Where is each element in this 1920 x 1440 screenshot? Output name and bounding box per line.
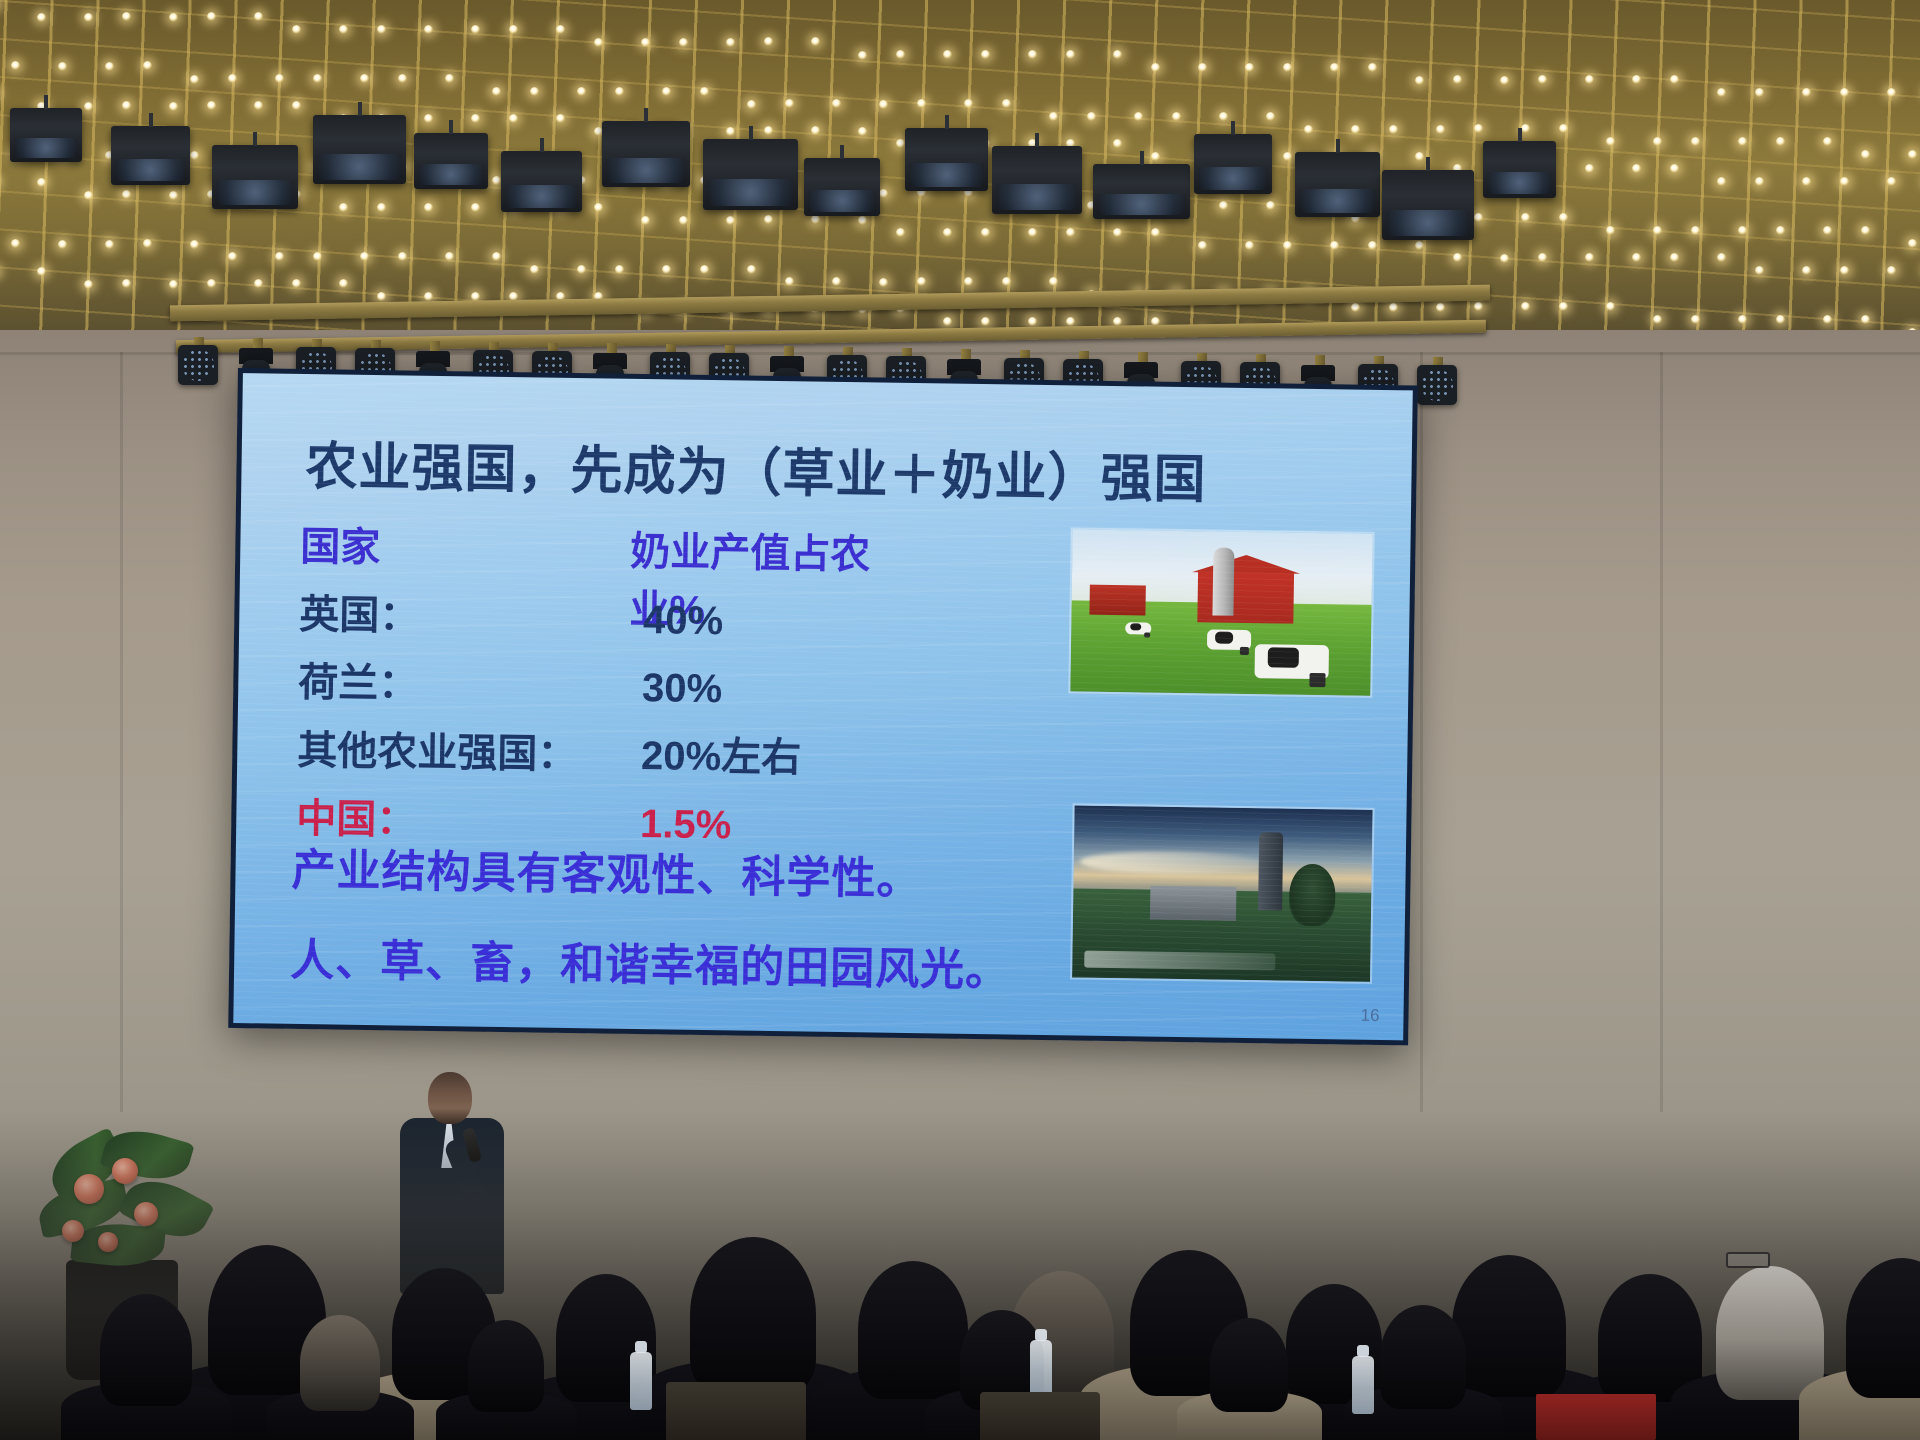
dusk-tree (1289, 864, 1336, 927)
wall-seam (120, 352, 123, 1112)
ceiling-bulb (858, 127, 867, 136)
fixture-yoke (840, 145, 844, 159)
ceiling-bulb (1113, 50, 1122, 59)
ceiling-bulb (1755, 88, 1764, 97)
cow-icon (1207, 630, 1251, 651)
fixture-yoke (1231, 121, 1235, 135)
ceiling-bulb (398, 252, 407, 261)
ceiling-bulb (577, 87, 586, 96)
ceiling-bulb (615, 87, 624, 96)
fixture-yoke (1426, 157, 1430, 171)
ceiling-bulb (858, 216, 867, 225)
fixture-lens (14, 138, 78, 159)
ceiling-bulb (313, 252, 322, 261)
ceiling-bulb (1436, 125, 1445, 134)
ceiling-bulb (1283, 63, 1292, 72)
water-bottle (630, 1352, 652, 1410)
ceiling-bulb (1087, 112, 1096, 121)
ceiling-bulb (377, 203, 386, 212)
led-wash-fixture (1417, 365, 1457, 405)
table-row: 荷兰： 30% (298, 650, 939, 711)
ceiling-bulb (858, 51, 867, 60)
fixture-lens (808, 190, 876, 212)
slide-bottom-text: 产业结构具有客观性、科学性。 人、草、畜，和谐幸福的田园风光。 (290, 834, 1112, 1000)
ceiling-bulb (169, 102, 178, 111)
ceiling-bulb (1389, 125, 1398, 134)
table-row: 其他农业强国： 20%左右 (297, 718, 938, 779)
ceiling-bulb (1802, 177, 1811, 186)
ceiling-bulb (679, 216, 688, 225)
ceiling-bulb (747, 265, 756, 274)
ceiling-bulb (1823, 226, 1832, 235)
ceiling-bulb (1840, 88, 1849, 97)
ceiling-bulb (530, 265, 539, 274)
ceiling-bulb (1351, 303, 1360, 312)
ceiling-bulb (700, 87, 709, 96)
par-can-fixture (804, 158, 880, 216)
fixture-yoke (945, 115, 949, 129)
ceiling-bulb (169, 191, 178, 200)
fixture-yoke (1035, 133, 1039, 147)
row-country: 荷兰： (298, 650, 625, 713)
fixture-lens (505, 185, 578, 208)
fixture-yoke (1336, 139, 1340, 153)
ceiling-bulb (594, 38, 603, 47)
ceiling-bulb (509, 114, 518, 123)
audience-head (300, 1315, 380, 1411)
ceiling-bulb (1861, 150, 1870, 159)
audience-head (468, 1320, 544, 1412)
ceiling-bulb (424, 114, 433, 123)
ceiling-bulb (1172, 112, 1181, 121)
ceiling-bulb (641, 216, 650, 225)
ceiling-bulb (190, 240, 199, 249)
ceiling-bulb (1368, 63, 1377, 72)
row-value: 30% (624, 666, 939, 716)
par-can-fixture (1382, 170, 1474, 240)
screenshot-root: 农业强国，先成为（草业＋奶业）强国 国家 奶业产值占农业% 英国： 40% 荷兰… (0, 0, 1920, 1440)
par-can-fixture (111, 126, 190, 185)
ceiling-bulb (398, 74, 407, 83)
ceiling-bulb (1908, 150, 1917, 159)
ceiling-bulb (726, 127, 735, 136)
ceiling-bulb (1283, 241, 1292, 250)
cow-icon (1255, 644, 1329, 679)
audience-head (1716, 1266, 1824, 1400)
dairy-farm-photo (1068, 527, 1374, 697)
fixture-yoke (1518, 128, 1522, 142)
presentation-slide: 农业强国，先成为（草业＋奶业）强国 国家 奶业产值占农业% 英国： 40% 荷兰… (233, 373, 1413, 1040)
ceiling-bulb (1245, 241, 1254, 250)
ceiling-bulb (1436, 303, 1445, 312)
ceiling-bulb (445, 252, 454, 261)
wall-seam (0, 352, 1920, 355)
table-header-country: 国家 (300, 514, 631, 577)
par-can-fixture (212, 145, 298, 209)
chair-back (980, 1392, 1100, 1440)
ceiling-bulb (1500, 254, 1509, 263)
ceiling-bulb (1266, 112, 1275, 121)
ceiling-bulb (424, 292, 433, 301)
ceiling-bulb (1861, 315, 1870, 324)
chair-back (666, 1382, 806, 1440)
audience-head (690, 1237, 816, 1393)
ceiling-bulb (1415, 241, 1424, 250)
fixture-yoke (644, 108, 648, 122)
ceiling-bulb (377, 292, 386, 301)
ceiling-bulb (1198, 63, 1207, 72)
ceiling-bulb (1823, 137, 1832, 146)
par-can-fixture (10, 108, 82, 162)
ceiling-bulb (879, 100, 888, 109)
dusk-farmstead-photo (1070, 803, 1375, 983)
dusk-field (1084, 950, 1275, 970)
ceiling-bulb (1840, 177, 1849, 186)
fixture-lens (216, 180, 294, 204)
fixture-yoke (749, 126, 753, 140)
audience-head (100, 1294, 192, 1406)
ceiling-bulb (84, 191, 93, 200)
ceiling-bulb (1887, 266, 1896, 275)
ceiling-bulb (37, 267, 46, 276)
ceiling-bulb (879, 189, 888, 198)
wall-seam (1660, 352, 1663, 1112)
ceiling-bulb (1245, 63, 1254, 72)
cow-icon (1125, 622, 1151, 634)
led-wash-fixture (178, 345, 218, 385)
ceiling-bulb (424, 203, 433, 212)
ceiling-bulb (615, 265, 624, 274)
par-can-fixture (1194, 134, 1272, 194)
ceiling-bulb (1776, 137, 1785, 146)
par-can-fixture (1483, 141, 1556, 198)
water-bottle (1352, 1356, 1374, 1414)
fixture-yoke (149, 113, 153, 127)
led-screen-surface: 农业强国，先成为（草业＋奶业）强国 国家 奶业产值占农业% 英国： 40% 荷兰… (233, 373, 1413, 1040)
bottom-line-2: 人、草、畜，和谐幸福的田园风光。 (290, 924, 1111, 1000)
audience-head (858, 1261, 968, 1399)
par-can-fixture (313, 115, 406, 184)
ceiling-bulb (1219, 112, 1228, 121)
ceiling-bulb (1198, 241, 1207, 250)
ceiling-bulb (424, 25, 433, 34)
fixture-lens (707, 179, 794, 206)
ceiling-bulb (105, 240, 114, 249)
led-screen: 农业强国，先成为（草业＋奶业）强国 国家 奶业产值占农业% 英国： 40% 荷兰… (228, 368, 1418, 1045)
ceiling-bulb (1776, 226, 1785, 235)
ceiling-bulb (1755, 266, 1764, 275)
par-can-fixture (1093, 164, 1190, 219)
ceiling-bulb (1002, 99, 1011, 108)
ceiling-bulb (1151, 152, 1160, 161)
fixture-lens (1386, 210, 1470, 237)
dusk-barn (1150, 886, 1236, 921)
ceiling-bulb (726, 38, 735, 47)
ceiling-bulb (1066, 50, 1075, 59)
table-header-row: 国家 奶业产值占农业% (300, 514, 941, 575)
fixture-lens (1299, 189, 1376, 214)
ceiling-bulb (556, 25, 565, 34)
par-can-fixture (414, 133, 488, 189)
ceiling-bulb (594, 203, 603, 212)
ceiling-bulb (1266, 201, 1275, 210)
par-can-fixture (992, 146, 1082, 214)
fixture-lens (317, 154, 402, 180)
ceiling-bulb (1113, 139, 1122, 148)
fixture-yoke (449, 120, 453, 134)
ceiling-bulb (1330, 63, 1339, 72)
ceiling-bulb (577, 265, 586, 274)
ceiling-bulb (641, 38, 650, 47)
ceiling-bulb (1066, 228, 1075, 237)
fixture-yoke (540, 138, 544, 152)
fixture-lens (909, 163, 984, 187)
fixture-lens (418, 164, 484, 185)
par-can-fixture (1295, 152, 1380, 217)
ceiling-bulb (1840, 266, 1849, 275)
ceiling-bulb (700, 265, 709, 274)
ceiling-bulb (1351, 125, 1360, 134)
ceiling-bulb (1151, 63, 1160, 72)
slide-title: 农业强国，先成为（草业＋奶业）强国 (305, 424, 1358, 515)
ceiling-bulb (879, 278, 888, 287)
audience-head (1210, 1318, 1288, 1412)
row-value: 20%左右 (623, 723, 938, 786)
ceiling-bulb (530, 87, 539, 96)
ceiling-bulb (58, 240, 67, 249)
led-screen-bezel: 农业强国，先成为（草业＋奶业）强国 国家 奶业产值占农业% 英国： 40% 荷兰… (228, 368, 1418, 1045)
ceiling-bulb (1415, 152, 1424, 161)
farm-small-barn (1089, 585, 1145, 616)
ceiling-bulb (1283, 152, 1292, 161)
fixture-lens (1198, 167, 1268, 190)
fixture-yoke (358, 102, 362, 116)
ceiling-bulb (1823, 315, 1832, 324)
ceiling-bulb (1389, 303, 1398, 312)
fixture-yoke (253, 132, 257, 146)
dusk-silo (1258, 832, 1283, 910)
ceiling-bulb (1151, 228, 1160, 237)
ceiling-bulb (1134, 112, 1143, 121)
wall-seam (1420, 352, 1423, 1112)
ceiling-bulb (679, 38, 688, 47)
ceiling-bulb (1755, 177, 1764, 186)
ceiling-bulb (1368, 241, 1377, 250)
par-can-fixture (905, 128, 988, 191)
ceiling-bulb (1776, 315, 1785, 324)
farm-silo (1212, 548, 1234, 616)
ceiling-bulb (1415, 76, 1424, 85)
fixture-yoke (1140, 151, 1144, 165)
ceiling-bulb (1113, 228, 1122, 237)
bottom-line-1: 产业结构具有客观性、科学性。 (291, 834, 1112, 910)
table-banner (1536, 1394, 1656, 1440)
ceiling-bulb (726, 216, 735, 225)
ceiling-bulb (37, 13, 46, 22)
ceiling-bulb (1802, 88, 1811, 97)
ceiling-bulb (84, 280, 93, 289)
ceiling-bulb (662, 87, 671, 96)
ceiling-bulb (37, 178, 46, 187)
eyeglasses-icon (1726, 1252, 1770, 1268)
audience-head (1380, 1305, 1466, 1409)
ceiling-bulb (1219, 201, 1228, 210)
ceiling-bulb (84, 102, 93, 111)
water-bottle (1030, 1340, 1052, 1398)
ceiling-bulb (313, 74, 322, 83)
ceiling-bulb (58, 62, 67, 71)
ceiling-bulb (747, 100, 756, 109)
slide-page-number: 16 (1360, 1006, 1379, 1026)
ceiling-bulb (84, 13, 93, 22)
ceiling-bulb (445, 74, 454, 83)
ceiling-bulb (662, 265, 671, 274)
fixture-yoke (44, 95, 48, 109)
ceiling-bulb (169, 13, 178, 22)
fixture-lens (606, 158, 686, 183)
row-country: 其他农业强国： (297, 718, 624, 781)
par-can-fixture (703, 139, 798, 210)
ceiling-bulb (1887, 177, 1896, 186)
fixture-lens (1097, 194, 1186, 215)
ceiling-bulb (1500, 76, 1509, 85)
fixture-lens (996, 184, 1078, 210)
row-value: 40% (625, 598, 940, 648)
ceiling-bulb (1887, 88, 1896, 97)
stats-table: 国家 奶业产值占农业% 英国： 40% 荷兰： 30% 其他农业强国： (296, 514, 941, 863)
ceiling-bulb (1802, 266, 1811, 275)
ceiling-bulb (190, 151, 199, 160)
ceiling-bulb (556, 114, 565, 123)
ceiling-bulb (105, 62, 114, 71)
ceiling-bulb (509, 25, 518, 34)
ceiling-bulb (1330, 241, 1339, 250)
par-can-fixture (501, 151, 582, 212)
ceiling-bulb (1002, 277, 1011, 286)
row-country: 英国： (299, 582, 626, 645)
ceiling-bulb (190, 75, 199, 84)
par-can-fixture (602, 121, 690, 187)
audience (0, 1110, 1920, 1440)
fixture-lens (115, 159, 186, 181)
ceiling-bulb (377, 25, 386, 34)
ceiling-bulb (169, 280, 178, 289)
ceiling-bulb (1861, 226, 1870, 235)
ceiling-bulb (1066, 317, 1075, 326)
audience-head (1452, 1255, 1566, 1397)
ceiling-bulb (1304, 125, 1313, 134)
ceiling-bulb (1908, 239, 1917, 248)
fixture-lens (1487, 172, 1552, 194)
